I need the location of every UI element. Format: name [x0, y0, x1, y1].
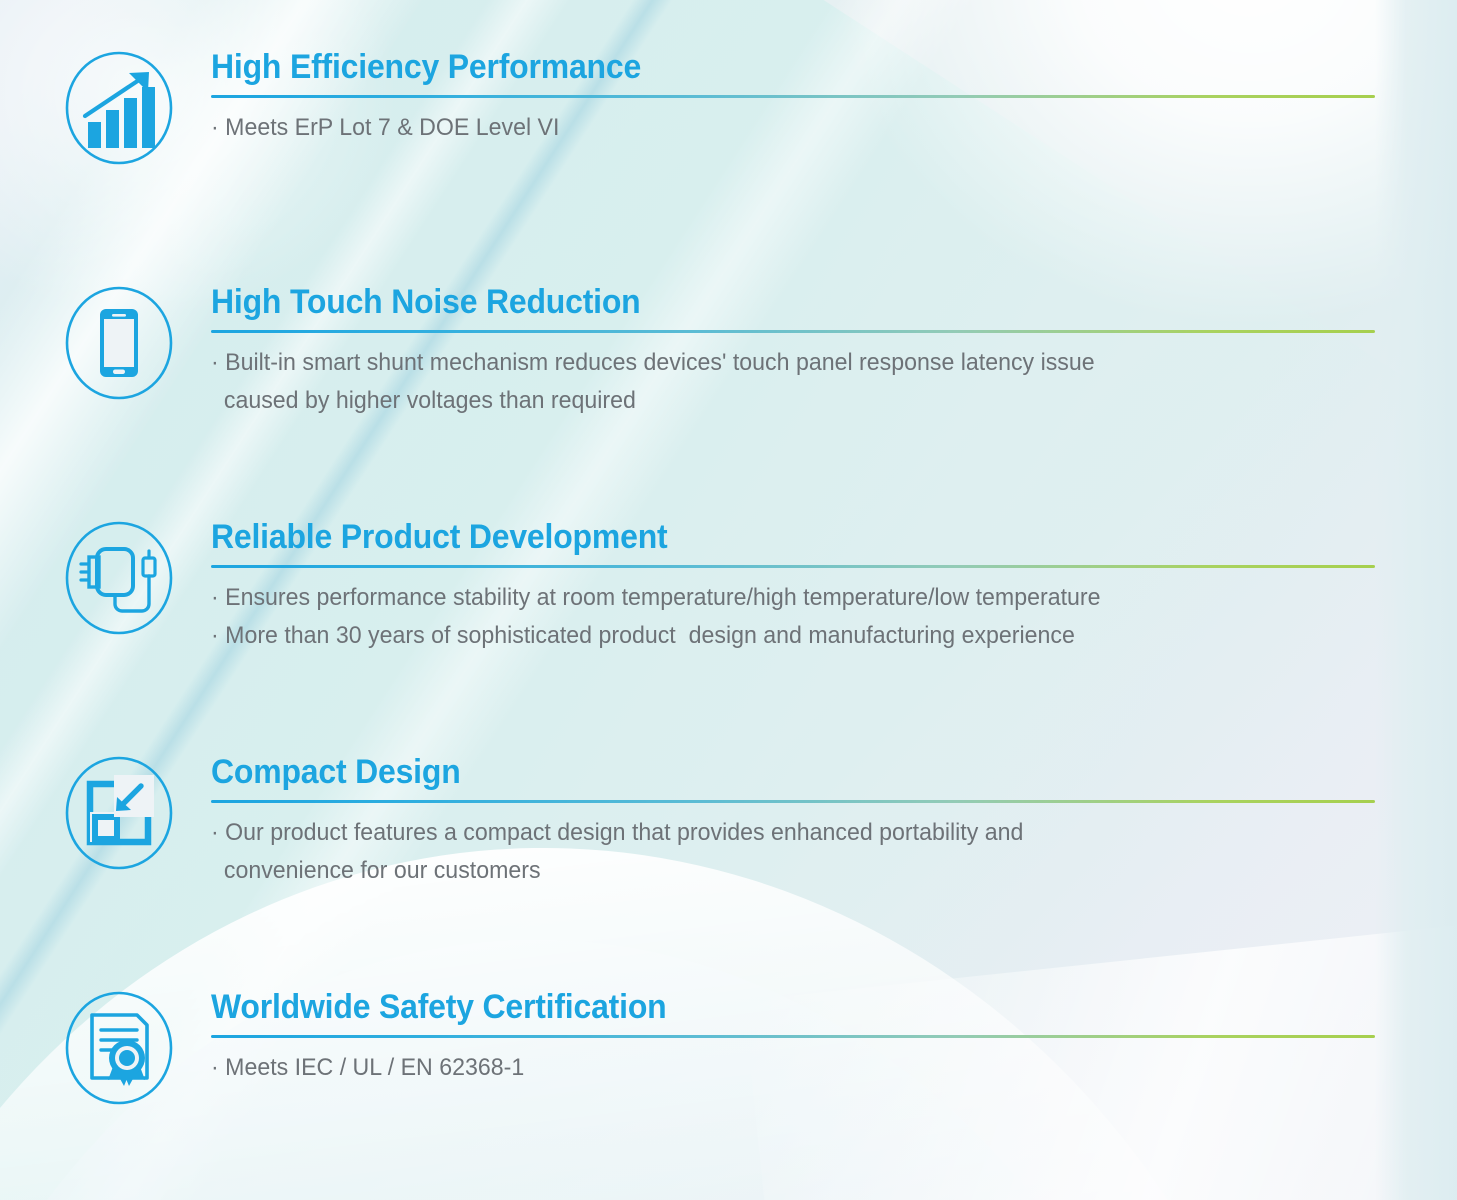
feature-item-high-efficiency-performance: High Efficiency Performance · Meets ErP …: [0, 48, 1457, 168]
feature-line: convenience for our customers: [211, 852, 1334, 890]
compact-resize-icon: [59, 753, 179, 873]
bar-chart-growth-icon: [59, 48, 179, 168]
feature-line: · Meets IEC / UL / EN 62368-1: [211, 1049, 1334, 1087]
smartphone-icon: [59, 283, 179, 403]
feature-body: Worldwide Safety Certification · Meets I…: [211, 988, 1457, 1087]
feature-body: Compact Design · Our product features a …: [211, 753, 1457, 890]
feature-body: Reliable Product Development · Ensures p…: [211, 518, 1457, 655]
feature-item-compact-design: Compact Design · Our product features a …: [0, 753, 1457, 890]
certificate-award-icon: [59, 988, 179, 1108]
feature-line: · Ensures performance stability at room …: [211, 579, 1334, 617]
feature-title: High Efficiency Performance: [211, 48, 1305, 86]
feature-divider: [211, 330, 1375, 333]
feature-description: · Our product features a compact design …: [211, 814, 1334, 890]
feature-title: Reliable Product Development: [211, 518, 1305, 556]
feature-title: High Touch Noise Reduction: [211, 283, 1305, 321]
feature-divider: [211, 565, 1375, 568]
feature-list: High Efficiency Performance · Meets ErP …: [0, 0, 1457, 1200]
feature-body: High Touch Noise Reduction · Built-in sm…: [211, 283, 1457, 420]
feature-item-worldwide-safety-certification: Worldwide Safety Certification · Meets I…: [0, 988, 1457, 1108]
feature-description: · Meets ErP Lot 7 & DOE Level VI: [211, 109, 1334, 147]
feature-divider: [211, 800, 1375, 803]
feature-divider: [211, 95, 1375, 98]
power-adapter-icon: [59, 518, 179, 638]
feature-body: High Efficiency Performance · Meets ErP …: [211, 48, 1457, 147]
feature-line: · More than 30 years of sophisticated pr…: [211, 617, 1334, 655]
feature-line: caused by higher voltages than required: [211, 382, 1334, 420]
feature-item-reliable-product-development: Reliable Product Development · Ensures p…: [0, 518, 1457, 655]
feature-item-high-touch-noise-reduction: High Touch Noise Reduction · Built-in sm…: [0, 283, 1457, 420]
feature-title: Compact Design: [211, 753, 1305, 791]
feature-description: · Ensures performance stability at room …: [211, 579, 1334, 655]
feature-line: · Meets ErP Lot 7 & DOE Level VI: [211, 109, 1334, 147]
feature-description: · Built-in smart shunt mechanism reduces…: [211, 344, 1334, 420]
feature-title: Worldwide Safety Certification: [211, 988, 1305, 1026]
feature-line: · Our product features a compact design …: [211, 814, 1334, 852]
feature-line: · Built-in smart shunt mechanism reduces…: [211, 344, 1334, 382]
feature-description: · Meets IEC / UL / EN 62368-1: [211, 1049, 1334, 1087]
feature-divider: [211, 1035, 1375, 1038]
